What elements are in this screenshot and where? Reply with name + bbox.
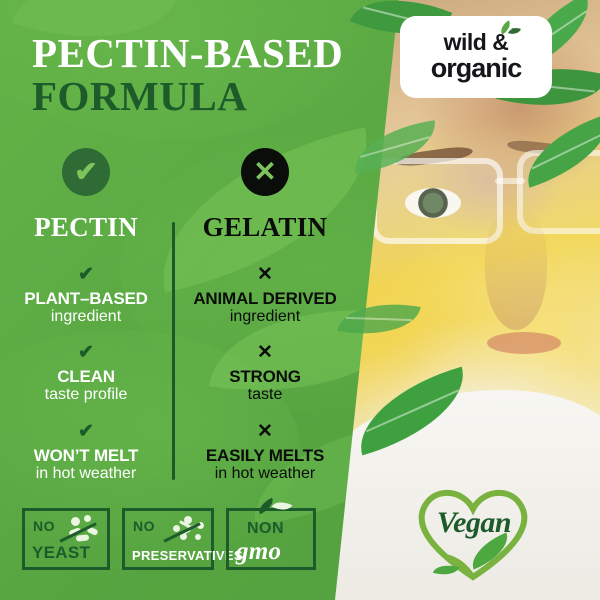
non-gmo-badge: NON gmo <box>226 508 316 570</box>
comparison-block: ✔ PECTIN ✔ PLANT–BASED ingredient ✔ CLEA… <box>0 148 360 500</box>
column-divider <box>172 222 175 480</box>
check-icon: ✔ <box>0 343 172 362</box>
cross-glyph: ✕ <box>253 158 276 186</box>
row-sub: in hot weather <box>0 465 172 483</box>
vegan-label: Vegan <box>426 506 522 540</box>
logo-line-1-text: wild & <box>444 29 509 55</box>
pectin-title: PECTIN <box>0 212 172 243</box>
safety-glasses-lens-left <box>371 158 503 244</box>
list-item: ✔ PLANT–BASED ingredient <box>0 265 172 326</box>
list-item: ✕ ANIMAL DERIVED ingredient <box>172 265 358 326</box>
row-main: EASILY MELTS <box>172 446 358 465</box>
yeast-crossed-icon <box>67 515 101 541</box>
row-sub: ingredient <box>0 308 172 326</box>
gelatin-title: GELATIN <box>172 212 358 243</box>
row-main: CLEAN <box>0 367 172 386</box>
page-title: PECTIN-BASED FORMULA <box>32 32 382 119</box>
list-item: ✔ CLEAN taste profile <box>0 343 172 404</box>
row-main: STRONG <box>172 367 358 386</box>
title-line-1: PECTIN-BASED <box>32 32 382 75</box>
safety-glasses-bridge <box>495 178 525 184</box>
list-item: ✕ EASILY MELTS in hot weather <box>172 422 358 483</box>
gelatin-column: ✕ GELATIN ✕ ANIMAL DERIVED ingredient ✕ … <box>172 148 358 500</box>
logo-line-1: wild & ™ <box>444 31 509 54</box>
pectin-column: ✔ PECTIN ✔ PLANT–BASED ingredient ✔ CLEA… <box>0 148 172 500</box>
logo-line-2: organic <box>431 54 522 82</box>
pectin-rows: ✔ PLANT–BASED ingredient ✔ CLEAN taste p… <box>0 265 172 483</box>
row-sub: taste <box>172 386 358 404</box>
row-main: WON’T MELT <box>0 446 172 465</box>
row-sub: in hot weather <box>172 465 358 483</box>
check-circle-icon: ✔ <box>62 148 110 196</box>
certification-badges: NO YEAST NO <box>22 508 316 570</box>
title-line-2: FORMULA <box>32 75 382 118</box>
vegan-seal: Vegan <box>408 478 538 584</box>
check-glyph: ✔ <box>74 158 97 186</box>
check-icon: ✔ <box>0 422 172 441</box>
cross-icon: ✕ <box>172 265 358 284</box>
leaf-sprout-icon <box>257 499 293 515</box>
list-item: ✕ STRONG taste <box>172 343 358 404</box>
brand-logo[interactable]: wild & ™ organic <box>400 16 552 98</box>
lips <box>487 332 561 354</box>
row-sub: ingredient <box>172 308 358 326</box>
badge-top-text: NON <box>247 520 284 538</box>
badge-bottom-text: gmo <box>236 541 281 564</box>
pectin-formula-poster: PECTIN-BASED FORMULA wild & ™ organic ✔ … <box>0 0 600 600</box>
gelatin-rows: ✕ ANIMAL DERIVED ingredient ✕ STRONG tas… <box>172 265 358 483</box>
badge-top-text: NO <box>133 518 155 534</box>
nose <box>485 210 547 330</box>
row-sub: taste profile <box>0 386 172 404</box>
molecule-crossed-icon <box>171 515 205 541</box>
badge-bottom-text: YEAST <box>32 543 90 563</box>
badge-top-text: NO <box>33 518 55 534</box>
list-item: ✔ WON’T MELT in hot weather <box>0 422 172 483</box>
cross-icon: ✕ <box>172 422 358 441</box>
cross-icon: ✕ <box>172 343 358 362</box>
no-preservatives-badge: NO PRESERVATIVES <box>122 508 214 570</box>
cross-circle-icon: ✕ <box>241 148 289 196</box>
row-main: PLANT–BASED <box>0 289 172 308</box>
row-main: ANIMAL DERIVED <box>172 289 358 308</box>
check-icon: ✔ <box>0 265 172 284</box>
no-yeast-badge: NO YEAST <box>22 508 110 570</box>
